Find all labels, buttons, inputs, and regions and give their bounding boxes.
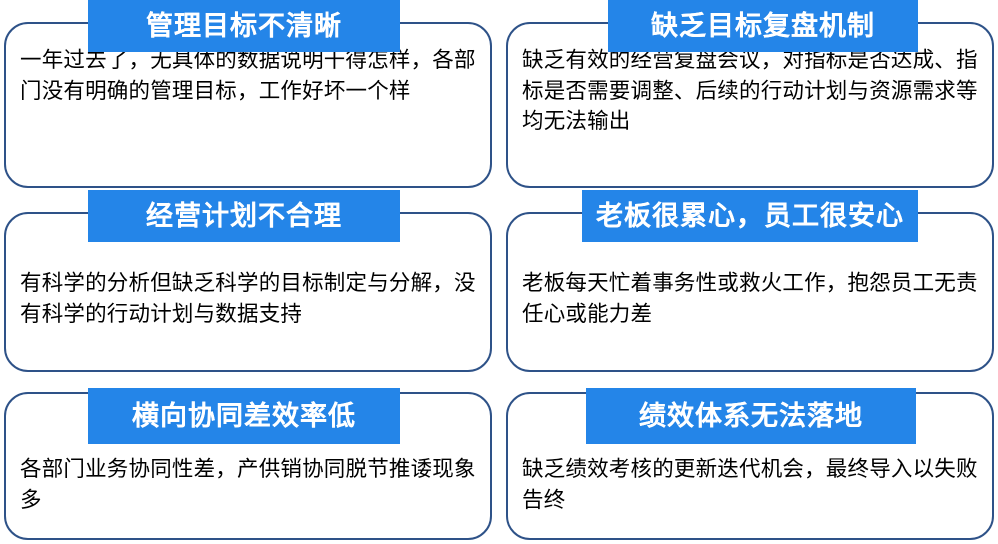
card-body-text-2: 缺乏有效的经营复盘会议，对指标是否达成、指标是否需要调整、后续的行动计划与资源需…	[522, 45, 978, 161]
problem-cards-board: 管理目标不清晰 一年过去了，无具体的数据说明干得怎样，各部门没有明确的管理目标，…	[0, 0, 998, 544]
card-body-text-6: 缺乏绩效考核的更新迭代机会，最终导入以失败告终	[522, 454, 982, 534]
card-title-banner-6: 绩效体系无法落地	[586, 388, 916, 444]
card-title-banner-3: 经营计划不合理	[88, 190, 400, 242]
card-body-text-5: 各部门业务协同性差，产供销协同脱节推诿现象多	[20, 454, 480, 534]
card-title-banner-2: 缺乏目标复盘机制	[608, 0, 918, 52]
card-title-banner-1: 管理目标不清晰	[88, 0, 400, 52]
card-body-text-4: 老板每天忙着事务性或救火工作，抱怨员工无责任心或能力差	[522, 268, 982, 362]
card-body-text-3: 有科学的分析但缺乏科学的目标制定与分解，没有科学的行动计划与数据支持	[20, 268, 480, 362]
card-title-banner-4: 老板很累心，员工很安心	[582, 190, 918, 242]
card-title-banner-5: 横向协同差效率低	[88, 388, 400, 444]
card-body-text-1: 一年过去了，无具体的数据说明干得怎样，各部门没有明确的管理目标，工作好坏一个样	[20, 45, 476, 161]
